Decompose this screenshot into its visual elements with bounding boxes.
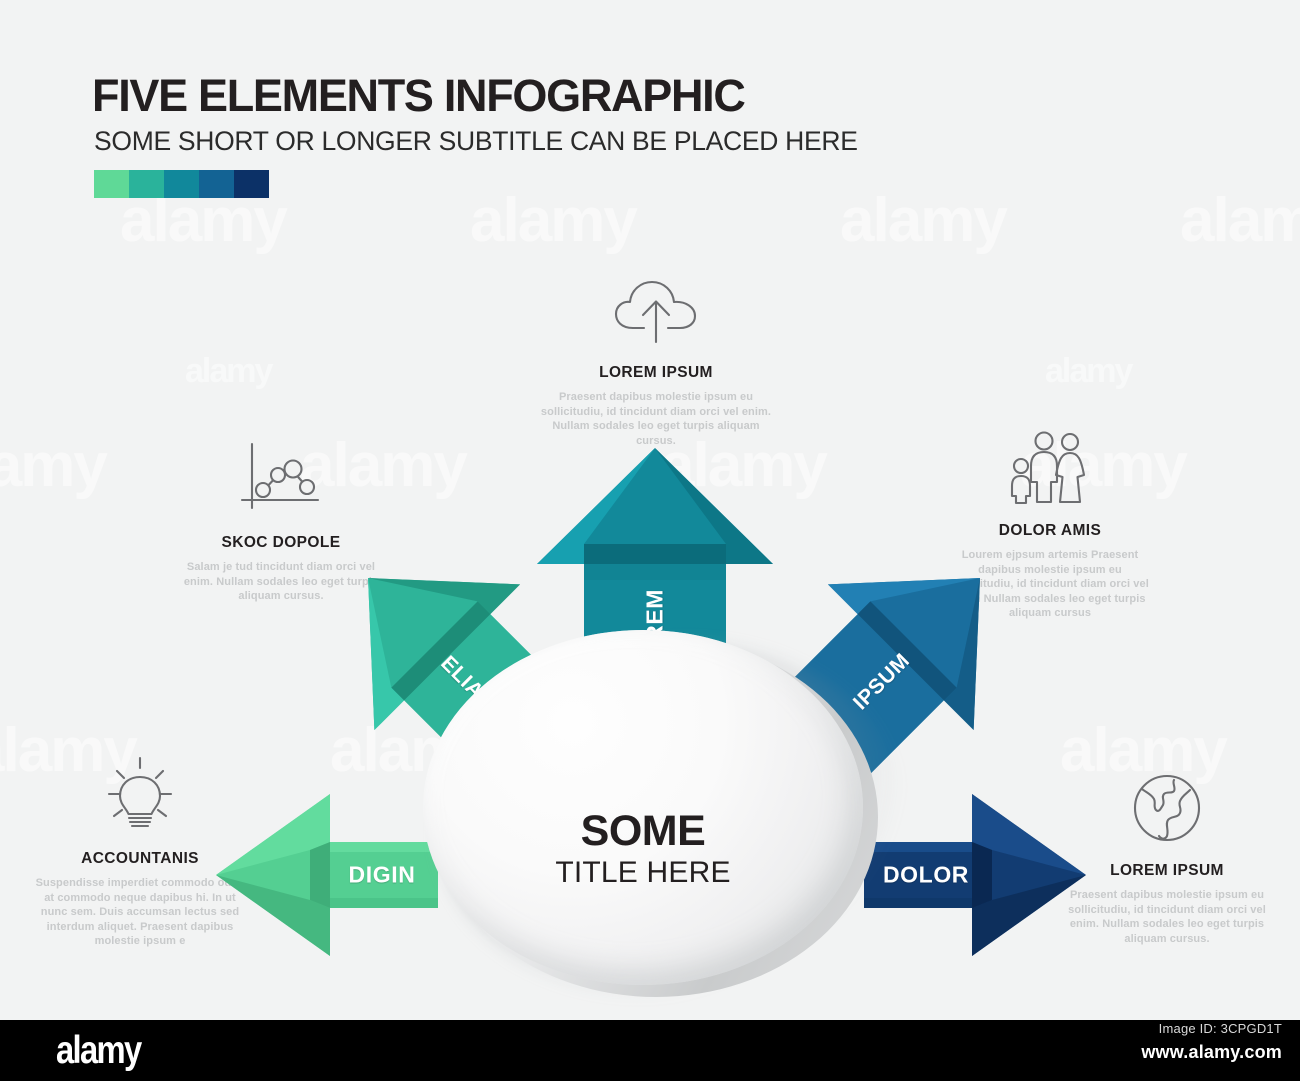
cloud-upload-icon — [540, 262, 772, 348]
watermark-text: alamy — [1045, 352, 1131, 391]
watermark-text: alamy — [1180, 185, 1300, 256]
color-swatch-5 — [234, 170, 269, 198]
color-swatch-1 — [94, 170, 129, 198]
watermark-text: alamy — [185, 352, 271, 391]
info-title: LOREM IPSUM — [1063, 862, 1271, 880]
info-title: LOREM IPSUM — [540, 364, 772, 382]
watermark-text: alamy — [0, 430, 106, 501]
alamy-url[interactable]: www.alamy.com — [1141, 1042, 1282, 1063]
family-icon — [950, 420, 1150, 506]
page-subtitle: SOME SHORT OR LONGER SUBTITLE CAN BE PLA… — [94, 126, 858, 156]
globe-icon-glyph — [1130, 770, 1204, 846]
header: FIVE ELEMENTS INFOGRAPHIC SOME SHORT OR … — [92, 72, 858, 198]
info-block-lorem-ipsum-top: LOREM IPSUM Praesent dapibus molestie ip… — [540, 262, 772, 448]
info-block-lorem-ipsum-right: LOREM IPSUM Praesent dapibus molestie ip… — [1063, 760, 1271, 946]
arrow-digin[interactable]: DIGIN — [210, 790, 440, 960]
color-swatch-bar — [94, 170, 858, 198]
lightbulb-icon-glyph — [97, 756, 183, 834]
color-swatch-4 — [199, 170, 234, 198]
infographic-canvas: alamy alamy alamy alamy alamy alamy alam… — [0, 0, 1300, 1081]
watermark-text: alamy — [840, 185, 1006, 256]
center-title: SOME — [581, 809, 706, 853]
info-body: Praesent dapibus molestie ipsum eu solli… — [1063, 888, 1271, 946]
alamy-logo: alamy — [56, 1029, 140, 1073]
family-icon-glyph — [1004, 430, 1096, 506]
color-swatch-2 — [129, 170, 164, 198]
globe-icon — [1063, 760, 1271, 846]
center-circle: SOME TITLE HERE — [423, 630, 863, 985]
line-chart-icon — [180, 432, 382, 518]
page-title: FIVE ELEMENTS INFOGRAPHIC — [92, 72, 858, 120]
arrow-digin-shape — [210, 790, 440, 960]
color-swatch-3 — [164, 170, 199, 198]
center-subtitle: TITLE HERE — [555, 855, 730, 891]
image-id-text: Image ID: 3CPGD1T — [1159, 1021, 1282, 1036]
watermark-bar: alamy Image ID: 3CPGD1T www.alamy.com — [0, 1020, 1300, 1081]
info-title: DOLOR AMIS — [950, 522, 1150, 540]
cloud-upload-icon-glyph — [610, 276, 702, 348]
line-chart-icon-glyph — [238, 442, 324, 518]
